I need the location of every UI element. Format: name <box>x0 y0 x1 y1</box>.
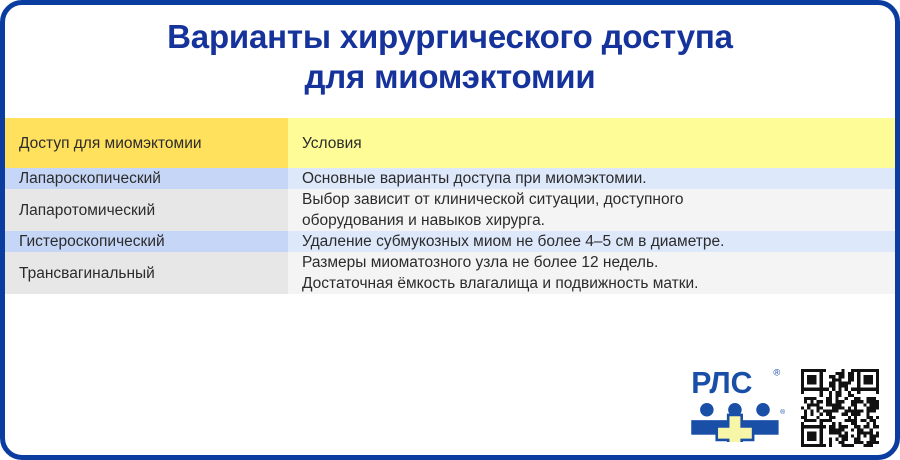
table-header: Доступ для миомэктомии Условия <box>5 118 895 168</box>
footer: РЛС ® ® <box>685 364 879 447</box>
cell-conditions: Основные варианты доступа при миомэктоми… <box>288 168 895 189</box>
table-row: ТрансвагинальныйРазмеры миоматозного узл… <box>5 252 895 294</box>
table-header-row: Доступ для миомэктомии Условия <box>5 118 895 168</box>
qr-code[interactable] <box>801 369 879 447</box>
registered-mark-top: ® <box>773 367 780 377</box>
medical-cross-icon <box>717 415 753 442</box>
column-header-conditions: Условия <box>288 118 895 168</box>
cell-conditions: Удаление субмукозных миом не более 4–5 с… <box>288 231 895 252</box>
person-head-left-icon <box>700 403 714 417</box>
table-row: ЛапароскопическийОсновные варианты досту… <box>5 168 895 189</box>
cell-conditions: Выбор зависит от клинической ситуации, д… <box>288 189 895 231</box>
person-head-right-icon <box>756 403 770 417</box>
rls-wordmark: РЛС <box>691 367 752 400</box>
access-table-container: Доступ для миомэктомии Условия Лапароско… <box>5 118 895 368</box>
rls-logo-svg: РЛС ® ® <box>685 364 789 442</box>
table-row: ЛапаротомическийВыбор зависит от клиниче… <box>5 189 895 231</box>
condition-line: Выбор зависит от клинической ситуации, д… <box>302 189 881 210</box>
infographic-card: Варианты хирургического доступа для миом… <box>0 0 900 460</box>
cell-access-method: Лапароскопический <box>5 168 288 189</box>
table-body: ЛапароскопическийОсновные варианты досту… <box>5 168 895 294</box>
registered-mark-bottom: ® <box>780 408 785 416</box>
cell-access-method: Трансвагинальный <box>5 252 288 294</box>
cell-access-method: Гистероскопический <box>5 231 288 252</box>
table-row: ГистероскопическийУдаление субмукозных м… <box>5 231 895 252</box>
title-line-2: для миомэктомии <box>5 57 895 97</box>
title-line-1: Варианты хирургического доступа <box>5 17 895 57</box>
column-header-access: Доступ для миомэктомии <box>5 118 288 168</box>
cell-access-method: Лапаротомический <box>5 189 288 231</box>
condition-line: Достаточная ёмкость влагалища и подвижно… <box>302 273 881 294</box>
page-title: Варианты хирургического доступа для миом… <box>5 5 895 97</box>
cell-conditions: Размеры миоматозного узла не более 12 не… <box>288 252 895 294</box>
access-table: Доступ для миомэктомии Условия Лапароско… <box>5 118 895 294</box>
condition-line: Размеры миоматозного узла не более 12 не… <box>302 252 881 273</box>
condition-line: Основные варианты доступа при миомэктоми… <box>302 168 881 189</box>
condition-line: оборудования и навыков хирурга. <box>302 210 881 231</box>
condition-line: Удаление субмукозных миом не более 4–5 с… <box>302 231 881 252</box>
rls-logo: РЛС ® ® <box>685 364 789 447</box>
